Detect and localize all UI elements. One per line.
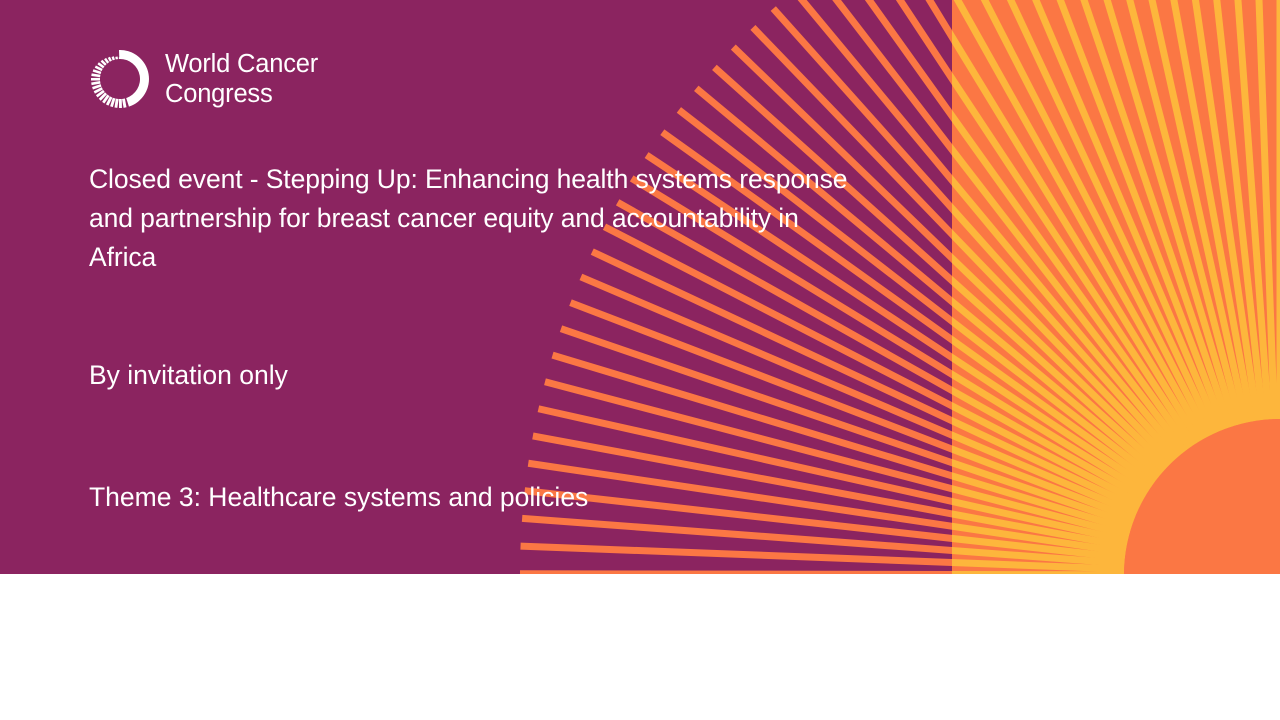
event-theme: Theme 3: Healthcare systems and policies	[89, 478, 588, 517]
event-title: Closed event - Stepping Up: Enhancing he…	[89, 160, 849, 277]
world-cancer-congress-radial-mark	[89, 48, 151, 110]
slide-canvas: World Cancer Congress Closed event - Ste…	[0, 0, 1280, 720]
world-cancer-congress-logo: World Cancer Congress	[89, 41, 389, 117]
hero-band: World Cancer Congress Closed event - Ste…	[0, 0, 1280, 574]
footer-band: Organised by Roche	[0, 574, 1280, 720]
world-cancer-congress-wordmark: World Cancer Congress	[165, 49, 318, 109]
event-access-note: By invitation only	[89, 356, 288, 395]
